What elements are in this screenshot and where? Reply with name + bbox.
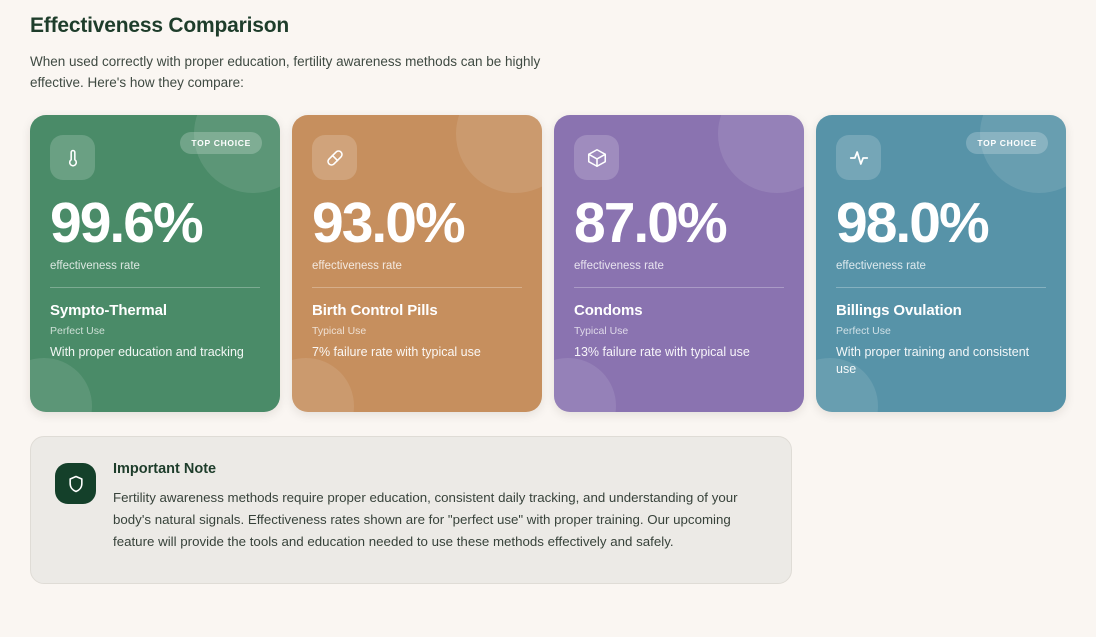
card-divider bbox=[312, 287, 522, 288]
comparison-card-grid: TOP CHOICE99.6%effectiveness rateSympto-… bbox=[30, 115, 1066, 412]
comparison-card[interactable]: TOP CHOICE99.6%effectiveness rateSympto-… bbox=[30, 115, 280, 412]
method-name: Billings Ovulation bbox=[836, 302, 1046, 319]
method-note: 13% failure rate with typical use bbox=[574, 344, 779, 361]
pill-icon bbox=[312, 135, 357, 180]
card-divider bbox=[836, 287, 1046, 288]
method-note: With proper education and tracking bbox=[50, 344, 255, 361]
card-divider bbox=[50, 287, 260, 288]
effectiveness-comparison-page: Effectiveness Comparison When used corre… bbox=[0, 0, 1096, 584]
activity-icon bbox=[836, 135, 881, 180]
use-type-label: Perfect Use bbox=[836, 325, 1046, 337]
decorative-circle-bottom bbox=[292, 358, 354, 412]
important-note-box: Important Note Fertility awareness metho… bbox=[30, 436, 792, 584]
top-choice-badge: TOP CHOICE bbox=[966, 132, 1048, 154]
effectiveness-label: effectiveness rate bbox=[50, 260, 260, 272]
important-note-body: Fertility awareness methods require prop… bbox=[113, 487, 765, 553]
effectiveness-label: effectiveness rate bbox=[836, 260, 1046, 272]
use-type-label: Typical Use bbox=[574, 325, 784, 337]
card-divider bbox=[574, 287, 784, 288]
effectiveness-label: effectiveness rate bbox=[574, 260, 784, 272]
decorative-circle-bottom bbox=[30, 358, 92, 412]
shield-icon bbox=[55, 463, 96, 504]
effectiveness-value: 99.6% bbox=[50, 194, 260, 252]
package-icon bbox=[574, 135, 619, 180]
effectiveness-value: 93.0% bbox=[312, 194, 522, 252]
important-note-text: Important Note Fertility awareness metho… bbox=[113, 461, 765, 553]
effectiveness-value: 87.0% bbox=[574, 194, 784, 252]
page-subtitle: When used correctly with proper educatio… bbox=[30, 51, 590, 93]
use-type-label: Typical Use bbox=[312, 325, 522, 337]
effectiveness-label: effectiveness rate bbox=[312, 260, 522, 272]
effectiveness-value: 98.0% bbox=[836, 194, 1046, 252]
comparison-card[interactable]: 87.0%effectiveness rateCondomsTypical Us… bbox=[554, 115, 804, 412]
method-note: With proper training and consistent use bbox=[836, 344, 1041, 378]
page-title: Effectiveness Comparison bbox=[30, 14, 1066, 38]
comparison-card[interactable]: 93.0%effectiveness rateBirth Control Pil… bbox=[292, 115, 542, 412]
comparison-card[interactable]: TOP CHOICE98.0%effectiveness rateBilling… bbox=[816, 115, 1066, 412]
top-choice-badge: TOP CHOICE bbox=[180, 132, 262, 154]
decorative-circle-bottom bbox=[554, 358, 616, 412]
method-name: Sympto-Thermal bbox=[50, 302, 260, 319]
use-type-label: Perfect Use bbox=[50, 325, 260, 337]
thermometer-icon bbox=[50, 135, 95, 180]
method-name: Condoms bbox=[574, 302, 784, 319]
method-name: Birth Control Pills bbox=[312, 302, 522, 319]
important-note-title: Important Note bbox=[113, 461, 765, 477]
method-note: 7% failure rate with typical use bbox=[312, 344, 517, 361]
